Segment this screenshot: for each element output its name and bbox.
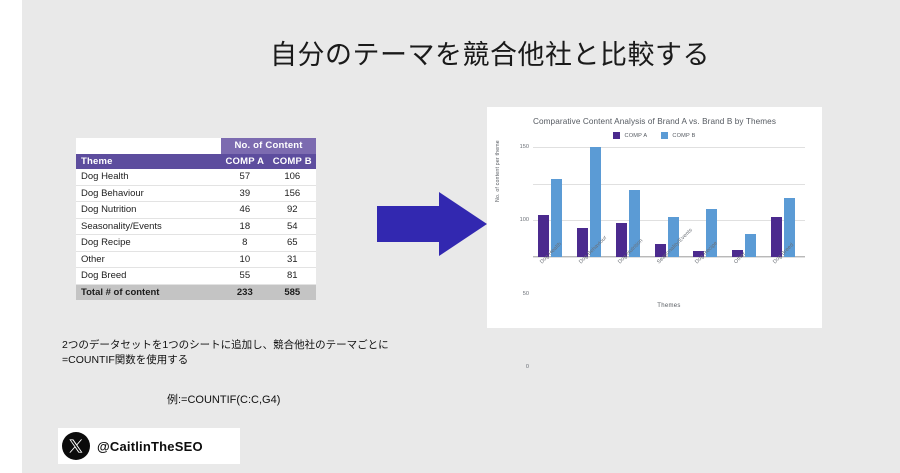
cell-comp-b: 54 bbox=[269, 218, 316, 235]
cell-comp-b: 92 bbox=[269, 202, 316, 219]
cell-theme: Dog Recipe bbox=[76, 235, 221, 252]
chart-bar-group: Seasonality/Events bbox=[650, 147, 689, 257]
chart-y-tick-label: 150 bbox=[520, 144, 529, 150]
legend-label-comp-b: COMP B bbox=[672, 133, 695, 139]
span-header-no-of-content: No. of Content bbox=[221, 138, 316, 154]
table-row: Dog Recipe 8 65 bbox=[76, 235, 316, 252]
chart-title: Comparative Content Analysis of Brand A … bbox=[487, 117, 822, 126]
chart-bar-group: Dog Behaviour bbox=[572, 147, 611, 257]
formula-example-text: 例:=COUNTIF(C:C,G4) bbox=[167, 391, 280, 407]
total-comp-b: 585 bbox=[269, 284, 316, 300]
cell-comp-b: 31 bbox=[269, 251, 316, 268]
cell-comp-b: 106 bbox=[269, 169, 316, 185]
chart-x-axis-label: Themes bbox=[533, 303, 805, 309]
chart-legend: COMP A COMP B bbox=[487, 132, 822, 139]
cell-comp-b: 156 bbox=[269, 185, 316, 202]
chart-bar-group: Dog Nutrition bbox=[611, 147, 650, 257]
chart-card: Comparative Content Analysis of Brand A … bbox=[487, 107, 822, 328]
chart-y-tick-label: 0 bbox=[526, 364, 529, 370]
legend-label-comp-a: COMP A bbox=[624, 133, 647, 139]
table-row: Other 10 31 bbox=[76, 251, 316, 268]
legend-item-comp-b: COMP B bbox=[661, 132, 695, 139]
instruction-text: 2つのデータセットを1つのシートに追加し、競合他社のテーマごとに =COUNTI… bbox=[62, 338, 389, 368]
content-table-card: No. of Content Theme COMP A COMP B Dog H… bbox=[76, 138, 316, 300]
chart-bar-group: Dog Health bbox=[533, 147, 572, 257]
table-span-header-row: No. of Content bbox=[76, 138, 316, 154]
social-handle: @CaitlinTheSEO bbox=[97, 439, 203, 454]
cell-theme: Seasonality/Events bbox=[76, 218, 221, 235]
column-header-comp-b: COMP B bbox=[269, 154, 316, 170]
chart-y-tick-label: 50 bbox=[523, 291, 529, 297]
column-header-comp-a: COMP A bbox=[221, 154, 268, 170]
content-table: No. of Content Theme COMP A COMP B Dog H… bbox=[76, 138, 316, 300]
cell-theme: Other bbox=[76, 251, 221, 268]
chart-bar-group: Other bbox=[727, 147, 766, 257]
cell-comp-b: 65 bbox=[269, 235, 316, 252]
span-header-blank-cell bbox=[76, 138, 221, 154]
table-header-row: Theme COMP A COMP B bbox=[76, 154, 316, 170]
table-row: Dog Breed 55 81 bbox=[76, 268, 316, 285]
chart-y-tick-label: 100 bbox=[520, 217, 529, 223]
cell-comp-a: 57 bbox=[221, 169, 268, 185]
chart-gridline: 0 bbox=[533, 257, 805, 258]
cell-comp-a: 18 bbox=[221, 218, 268, 235]
legend-item-comp-a: COMP A bbox=[613, 132, 647, 139]
chart-bar-group: Dog Breed bbox=[766, 147, 805, 257]
table-body: No. of Content Theme COMP A COMP B Dog H… bbox=[76, 138, 316, 300]
right-arrow-icon bbox=[377, 190, 487, 258]
footer: @CaitlinTheSEO bbox=[62, 432, 203, 460]
cell-theme: Dog Health bbox=[76, 169, 221, 185]
cell-comp-a: 55 bbox=[221, 268, 268, 285]
slide-canvas: 自分のテーマを競合他社と比較する No. of Content Theme CO… bbox=[22, 0, 900, 473]
cell-comp-a: 39 bbox=[221, 185, 268, 202]
cell-comp-a: 46 bbox=[221, 202, 268, 219]
chart-bar-group: Dog Recipe bbox=[688, 147, 727, 257]
table-row: Dog Health 57 106 bbox=[76, 169, 316, 185]
cell-theme: Dog Breed bbox=[76, 268, 221, 285]
legend-swatch-comp-b bbox=[661, 132, 668, 139]
cell-comp-a: 8 bbox=[221, 235, 268, 252]
cell-theme: Dog Behaviour bbox=[76, 185, 221, 202]
column-header-theme: Theme bbox=[76, 154, 221, 170]
table-row: Dog Nutrition 46 92 bbox=[76, 202, 316, 219]
table-row: Dog Behaviour 39 156 bbox=[76, 185, 316, 202]
chart-bar-comp-b bbox=[745, 234, 756, 257]
x-logo-icon[interactable] bbox=[62, 432, 90, 460]
chart-plot-area: 050100150Dog HealthDog BehaviourDog Nutr… bbox=[533, 147, 805, 257]
chart-y-axis-label: No. of content per theme bbox=[495, 140, 501, 202]
page-title: 自分のテーマを競合他社と比較する bbox=[250, 33, 730, 72]
cell-comp-a: 10 bbox=[221, 251, 268, 268]
total-label: Total # of content bbox=[76, 284, 221, 300]
cell-theme: Dog Nutrition bbox=[76, 202, 221, 219]
legend-swatch-comp-a bbox=[613, 132, 620, 139]
cell-comp-b: 81 bbox=[269, 268, 316, 285]
total-comp-a: 233 bbox=[221, 284, 268, 300]
table-total-row: Total # of content 233 585 bbox=[76, 284, 316, 300]
table-row: Seasonality/Events 18 54 bbox=[76, 218, 316, 235]
